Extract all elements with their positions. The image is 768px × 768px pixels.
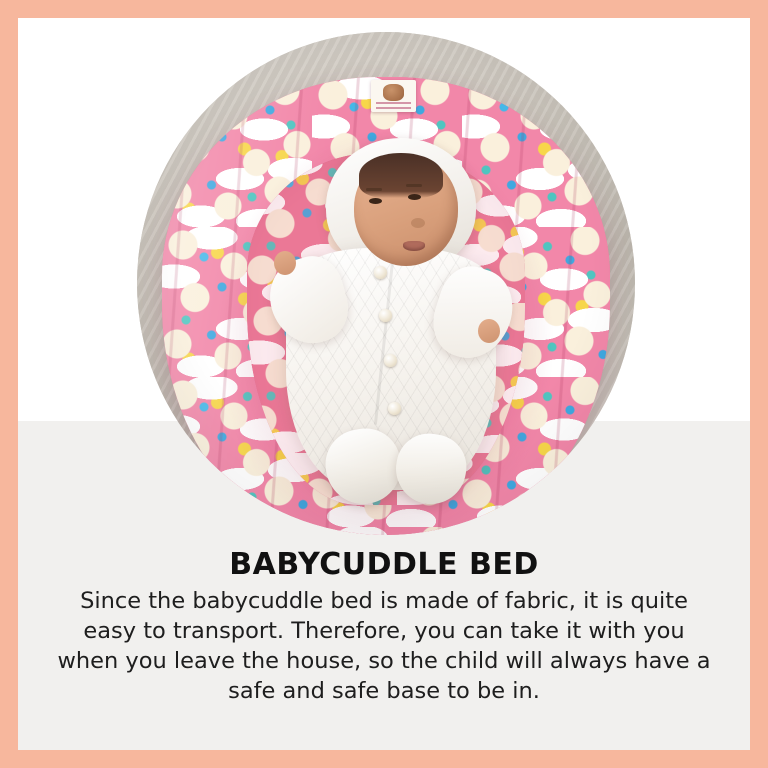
card-inner: BABYCUDDLE BED Since the babycuddle bed … xyxy=(18,18,750,750)
product-photo xyxy=(137,32,635,535)
baby-hair xyxy=(359,153,444,198)
baby-right-eyebrow xyxy=(406,184,422,187)
baby xyxy=(137,32,635,535)
product-description: Since the babycuddle bed is made of fabr… xyxy=(54,587,714,707)
baby-left-eye xyxy=(369,198,382,204)
baby-right-hand xyxy=(478,319,500,343)
onesie-button xyxy=(384,354,397,367)
product-title: BABYCUDDLE BED xyxy=(40,548,728,581)
baby-mouth xyxy=(403,241,425,251)
onesie-button xyxy=(374,266,387,279)
baby-left-eyebrow xyxy=(366,188,382,191)
text-block: BABYCUDDLE BED Since the babycuddle bed … xyxy=(18,548,750,707)
baby-nose xyxy=(411,218,425,228)
photo-inner xyxy=(137,32,635,535)
product-card: BABYCUDDLE BED Since the babycuddle bed … xyxy=(0,0,768,768)
baby-left-hand xyxy=(274,251,296,275)
onesie-button xyxy=(379,309,392,322)
